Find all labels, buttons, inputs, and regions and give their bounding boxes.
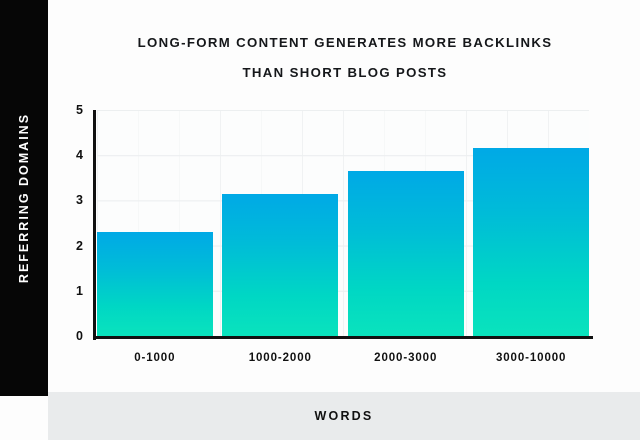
- x-axis-tick-label: 1000-2000: [249, 352, 312, 364]
- y-axis-tick-label: 5: [76, 103, 83, 117]
- y-axis-tick-label: 1: [76, 284, 83, 298]
- x-axis-tick-slot: 3000-10000: [473, 348, 589, 366]
- y-axis-tick-label: 2: [76, 239, 83, 253]
- bar-slot: [348, 110, 464, 336]
- chart-title-line-2: THAN SHORT BLOG POSTS: [50, 58, 640, 88]
- x-axis-tick-slot: 0-1000: [97, 348, 213, 366]
- bar-slot: [222, 110, 338, 336]
- bar-slot: [473, 110, 589, 336]
- y-axis-tick-label: 3: [76, 193, 83, 207]
- x-axis-title: WORDS: [315, 409, 374, 423]
- bar-series: [97, 110, 589, 336]
- x-axis-tick-slot: 1000-2000: [222, 348, 338, 366]
- y-axis-line: [93, 110, 96, 340]
- chart-screenshot: REFERRING DOMAINS WORDS LONG-FORM CONTEN…: [0, 0, 640, 440]
- y-axis-title: REFERRING DOMAINS: [17, 113, 31, 283]
- x-axis-tick-label: 0-1000: [134, 352, 175, 364]
- x-axis-title-band: WORDS: [48, 392, 640, 440]
- y-axis-tick-label: 0: [76, 329, 83, 343]
- x-axis-tick-label: 2000-3000: [374, 352, 437, 364]
- chart-panel: LONG-FORM CONTENT GENERATES MORE BACKLIN…: [50, 0, 640, 392]
- bar[interactable]: [97, 232, 213, 336]
- x-axis-tick-labels: 0-10001000-20002000-30003000-10000: [97, 348, 589, 366]
- chart-title: LONG-FORM CONTENT GENERATES MORE BACKLIN…: [50, 28, 640, 88]
- x-axis-line: [93, 336, 593, 339]
- y-axis-title-band: REFERRING DOMAINS: [0, 0, 48, 396]
- bar-slot: [97, 110, 213, 336]
- chart-title-line-1: LONG-FORM CONTENT GENERATES MORE BACKLIN…: [50, 28, 640, 58]
- y-axis-tick-label: 4: [76, 148, 83, 162]
- bar[interactable]: [222, 194, 338, 336]
- x-axis-tick-slot: 2000-3000: [348, 348, 464, 366]
- bar[interactable]: [473, 148, 589, 336]
- bar[interactable]: [348, 171, 464, 336]
- x-axis-tick-label: 3000-10000: [496, 352, 566, 364]
- plot-area: 543210 0-10001000-20002000-30003000-1000…: [97, 110, 589, 336]
